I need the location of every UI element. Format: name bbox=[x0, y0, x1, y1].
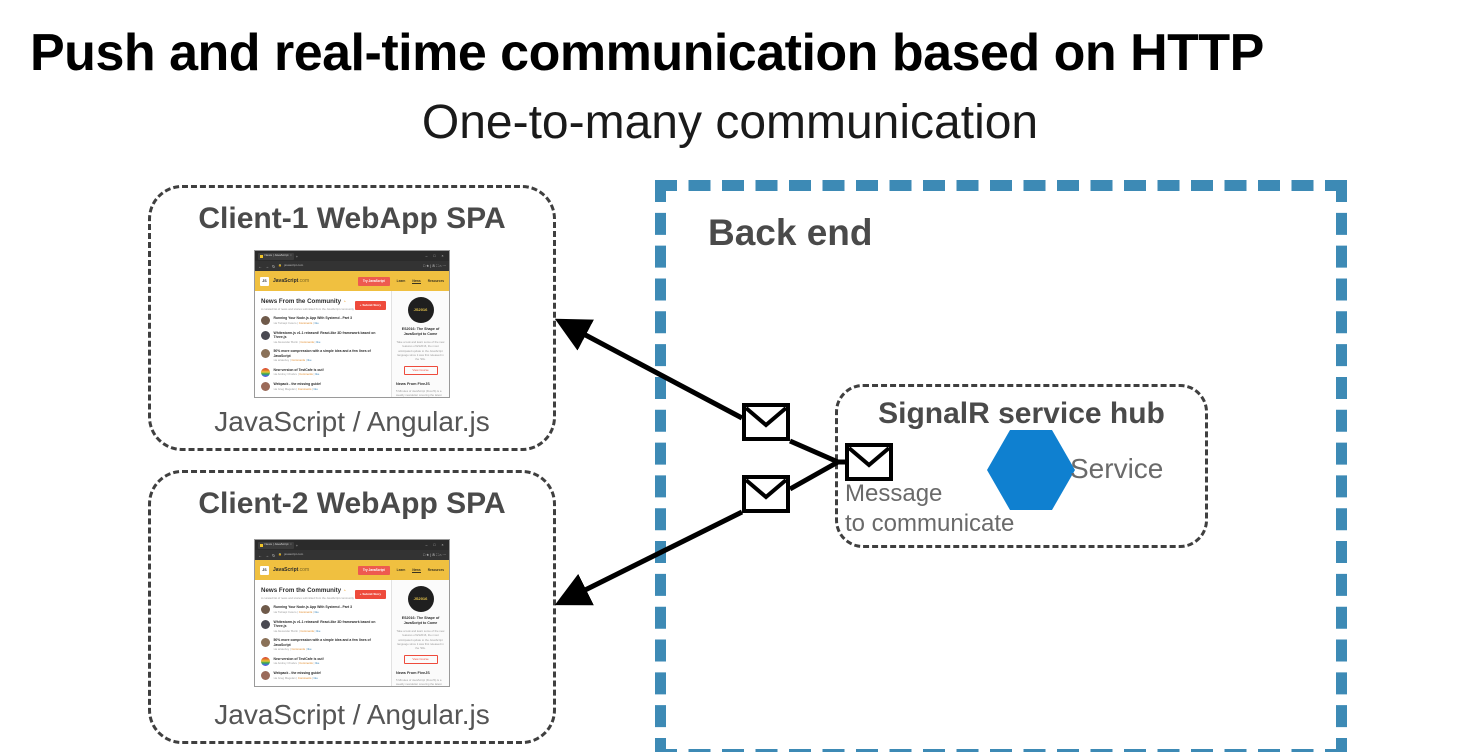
nav-link-resources[interactable]: Resources bbox=[428, 568, 444, 572]
envelope-icon bbox=[742, 403, 790, 441]
client-2-browser-screenshot: News | JavaScript × + – □ × ← → ↻ 🔒 java… bbox=[254, 539, 450, 687]
list-item[interactable]: New version of TestCafe is out! via Andr… bbox=[261, 368, 386, 377]
news-list: Running Your Node.js App With Systemd - … bbox=[261, 605, 386, 680]
nav-link-resources[interactable]: Resources bbox=[428, 279, 444, 283]
message-label-line-2: to communicate bbox=[845, 509, 1014, 539]
submit-story-button[interactable]: + Submit Story bbox=[355, 301, 386, 310]
reload-icon[interactable]: ↻ bbox=[272, 553, 275, 558]
news-heading: News From the Community ◔ bbox=[261, 298, 354, 306]
js-logo-icon: JS bbox=[260, 277, 269, 286]
envelope-icon bbox=[845, 443, 893, 481]
view-course-button[interactable]: View Course bbox=[404, 655, 438, 665]
view-course-button[interactable]: View Course bbox=[404, 366, 438, 376]
browser-titlebar: News | JavaScript × + – □ × bbox=[255, 540, 449, 550]
news-column: News From the Community ◔ A curated list… bbox=[255, 291, 391, 397]
sidebar-section-heading: News From FiveJS bbox=[396, 671, 445, 676]
client-2-box[interactable]: Client-2 WebApp SPA News | JavaScript × … bbox=[148, 470, 556, 744]
client-1-box[interactable]: Client-1 WebApp SPA News | JavaScript × … bbox=[148, 185, 556, 451]
forward-icon[interactable]: → bbox=[265, 553, 269, 558]
news-list: Running Your Node.js App With Systemd - … bbox=[261, 316, 386, 391]
news-sidebar: JS2016 ES2016: The Shape of JavaScript t… bbox=[391, 580, 449, 686]
page-title: Push and real-time communication based o… bbox=[30, 22, 1430, 84]
sidebar-body: Take a look and learn some of the new fe… bbox=[396, 629, 445, 651]
close-icon[interactable]: × bbox=[290, 543, 292, 547]
sidebar-section-body: 5 Minutes of JavaScript (FiveJS) is a we… bbox=[396, 678, 445, 687]
sidebar-section-body: 5 Minutes of JavaScript (FiveJS) is a we… bbox=[396, 389, 445, 398]
site-body: News From the Community ◔ A curated list… bbox=[255, 580, 449, 686]
browser-tab[interactable]: News | JavaScript × bbox=[258, 253, 294, 260]
rss-icon: ◔ bbox=[343, 588, 346, 594]
try-javascript-button[interactable]: Try JavaScript bbox=[358, 566, 390, 575]
list-item[interactable]: Whitestorm.js v1.1 released! React-like … bbox=[261, 620, 386, 634]
nav-link-learn[interactable]: Learn bbox=[397, 279, 406, 283]
close-icon[interactable]: × bbox=[290, 254, 292, 258]
toolbar-icons[interactable]: □ ★ | ✇ ⛶ ⌂ ⋯ bbox=[423, 553, 446, 557]
page-subtitle: One-to-many communication bbox=[30, 92, 1430, 154]
favicon-icon bbox=[260, 544, 263, 547]
site-nav: Try JavaScript Learn News Resources bbox=[358, 277, 444, 286]
article-meta: via Andrey Chudev | Comments | like bbox=[274, 373, 324, 376]
nav-link-news[interactable]: News bbox=[412, 279, 420, 284]
client-1-browser-screenshot: News | JavaScript × + – □ × ← → ↻ 🔒 java… bbox=[254, 250, 450, 398]
new-tab-icon[interactable]: + bbox=[296, 543, 298, 548]
js-logo-icon: JS bbox=[260, 566, 269, 575]
avatar bbox=[261, 331, 270, 340]
address-bar-value: javascript.com bbox=[284, 553, 303, 557]
address-bar-value: javascript.com bbox=[284, 264, 303, 268]
article-title: 50% more compression with a simple idea … bbox=[274, 349, 387, 358]
nav-link-news[interactable]: News bbox=[412, 568, 420, 573]
site-header: JS JavaScript.com Try JavaScript Learn N… bbox=[255, 560, 449, 580]
sidebar-body: Take a look and learn some of the new fe… bbox=[396, 340, 445, 362]
list-item[interactable]: Running Your Node.js App With Systemd - … bbox=[261, 605, 386, 614]
forward-icon[interactable]: → bbox=[265, 264, 269, 269]
back-icon[interactable]: ← bbox=[258, 553, 262, 558]
list-item[interactable]: Webpack - the missing guide! via Greg Ma… bbox=[261, 382, 386, 391]
avatar bbox=[261, 657, 270, 666]
message-to-communicate-label: Message to communicate bbox=[845, 479, 1014, 539]
avatar bbox=[261, 620, 270, 629]
site-brand: JavaScript.com bbox=[273, 567, 309, 573]
client-1-title: Client-1 WebApp SPA bbox=[151, 202, 553, 236]
article-meta: via Alexander Buzin | Comments | like bbox=[274, 630, 387, 633]
browser-toolbar: ← → ↻ 🔒 javascript.com □ ★ | ✇ ⛶ ⌂ ⋯ bbox=[255, 550, 449, 560]
service-label: Service bbox=[1070, 453, 1163, 485]
toolbar-icons[interactable]: □ ★ | ✇ ⛶ ⌂ ⋯ bbox=[423, 264, 446, 268]
news-subheading: A curated list of news and stories submi… bbox=[261, 596, 354, 600]
favicon-icon bbox=[260, 255, 263, 258]
avatar bbox=[261, 349, 270, 358]
article-meta: via ariaieboy | Comments | like bbox=[274, 359, 387, 362]
back-icon[interactable]: ← bbox=[258, 264, 262, 269]
news-sidebar: JS2016 ES2016: The Shape of JavaScript t… bbox=[391, 291, 449, 397]
avatar bbox=[261, 638, 270, 647]
news-subheading: A curated list of news and stories submi… bbox=[261, 307, 354, 311]
client-1-footer: JavaScript / Angular.js bbox=[151, 406, 553, 438]
address-bar[interactable]: 🔒 javascript.com bbox=[278, 553, 420, 557]
window-controls[interactable]: – □ × bbox=[425, 254, 446, 258]
article-title: Whitestorm.js v1.1 released! React-like … bbox=[274, 331, 387, 340]
site-header: JS JavaScript.com Try JavaScript Learn N… bbox=[255, 271, 449, 291]
address-bar[interactable]: 🔒 javascript.com bbox=[278, 264, 420, 268]
list-item[interactable]: Webpack - the missing guide! via Greg Ma… bbox=[261, 671, 386, 680]
course-badge-icon: JS2016 bbox=[408, 297, 434, 323]
reload-icon[interactable]: ↻ bbox=[272, 264, 275, 269]
submit-story-button[interactable]: + Submit Story bbox=[355, 590, 386, 599]
site-brand: JavaScript.com bbox=[273, 278, 309, 284]
backend-label: Back end bbox=[708, 212, 873, 254]
article-title: Whitestorm.js v1.1 released! React-like … bbox=[274, 620, 387, 629]
browser-tab[interactable]: News | JavaScript × bbox=[258, 542, 294, 549]
avatar bbox=[261, 316, 270, 325]
new-tab-icon[interactable]: + bbox=[296, 254, 298, 259]
article-title: 50% more compression with a simple idea … bbox=[274, 638, 387, 647]
lock-icon: 🔒 bbox=[278, 553, 282, 557]
client-2-footer: JavaScript / Angular.js bbox=[151, 699, 553, 731]
signalr-hub-title: SignalR service hub bbox=[838, 397, 1205, 431]
site-body: News From the Community ◔ A curated list… bbox=[255, 291, 449, 397]
window-controls[interactable]: – □ × bbox=[425, 543, 446, 547]
lock-icon: 🔒 bbox=[278, 264, 282, 268]
list-item[interactable]: New version of TestCafe is out! via Andr… bbox=[261, 657, 386, 666]
article-meta: via Twinapi Cetero | Comments | like bbox=[274, 322, 352, 325]
list-item[interactable]: Whitestorm.js v1.1 released! React-like … bbox=[261, 331, 386, 345]
article-meta: via Alexander Buzin | Comments | like bbox=[274, 341, 387, 344]
sidebar-title: ES2016: The Shape of JavaScript to Come bbox=[396, 327, 445, 337]
sidebar-section-heading: News From FiveJS bbox=[396, 382, 445, 387]
list-item[interactable]: 50% more compression with a simple idea … bbox=[261, 349, 386, 363]
course-badge-icon: JS2016 bbox=[408, 586, 434, 612]
avatar bbox=[261, 382, 270, 391]
client-2-title: Client-2 WebApp SPA bbox=[151, 487, 553, 521]
list-item[interactable]: Running Your Node.js App With Systemd - … bbox=[261, 316, 386, 325]
article-meta: via ariaieboy | Comments | like bbox=[274, 648, 387, 651]
news-column: News From the Community ◔ A curated list… bbox=[255, 580, 391, 686]
envelope-icon bbox=[742, 475, 790, 513]
browser-tab-title: News | JavaScript bbox=[265, 543, 289, 547]
message-label-line-1: Message bbox=[845, 479, 1014, 509]
avatar bbox=[261, 368, 270, 377]
avatar bbox=[261, 605, 270, 614]
try-javascript-button[interactable]: Try JavaScript bbox=[358, 277, 390, 286]
browser-toolbar: ← → ↻ 🔒 javascript.com □ ★ | ✇ ⛶ ⌂ ⋯ bbox=[255, 261, 449, 271]
article-meta: via Greg Magolan | Comments | like bbox=[274, 677, 322, 680]
browser-titlebar: News | JavaScript × + – □ × bbox=[255, 251, 449, 261]
article-meta: via Greg Magolan | Comments | like bbox=[274, 388, 322, 391]
news-heading: News From the Community ◔ bbox=[261, 587, 354, 595]
list-item[interactable]: 50% more compression with a simple idea … bbox=[261, 638, 386, 652]
nav-link-learn[interactable]: Learn bbox=[397, 568, 406, 572]
rss-icon: ◔ bbox=[343, 299, 346, 305]
article-meta: via Twinapi Cetero | Comments | like bbox=[274, 611, 352, 614]
site-nav: Try JavaScript Learn News Resources bbox=[358, 566, 444, 575]
article-meta: via Andrey Chudev | Comments | like bbox=[274, 662, 324, 665]
sidebar-title: ES2016: The Shape of JavaScript to Come bbox=[396, 616, 445, 626]
slide-root: Push and real-time communication based o… bbox=[0, 0, 1463, 752]
browser-tab-title: News | JavaScript bbox=[265, 254, 289, 258]
avatar bbox=[261, 671, 270, 680]
